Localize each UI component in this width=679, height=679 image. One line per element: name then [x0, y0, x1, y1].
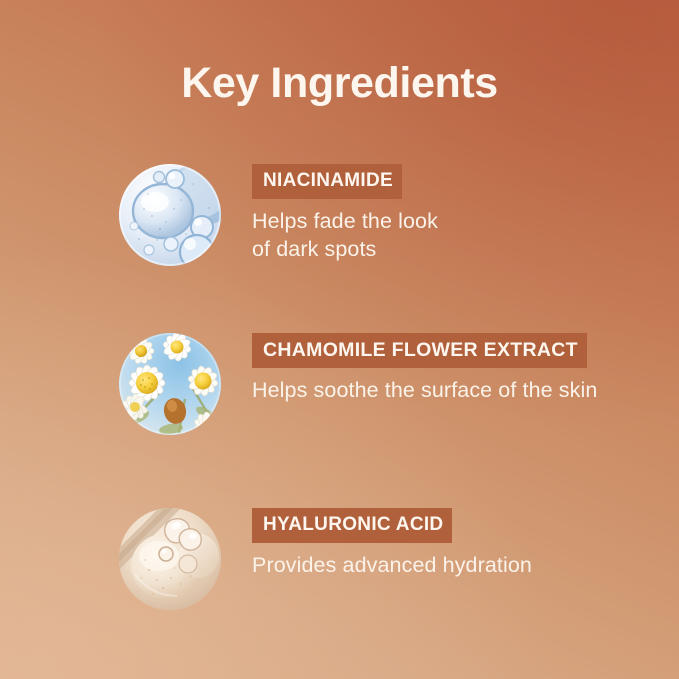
- blue-water-bubbles-circle-image: [119, 164, 221, 266]
- ingredient-text-column: NIACINAMIDE Helps fade the look of dark …: [221, 164, 679, 263]
- flowers-art-detail: [119, 333, 221, 435]
- description-line: Helps fade the look: [252, 207, 672, 235]
- chamomile-daisy-flowers-circle-image: [119, 333, 221, 435]
- thumbnail-container: [0, 164, 221, 266]
- ingredient-row-chamomile-flower-extract: CHAMOMILE FLOWER EXTRACT Helps soothe th…: [0, 333, 679, 435]
- ingredient-row-hyaluronic-acid: HYALURONIC ACID Provides advanced hydrat…: [0, 508, 679, 610]
- key-ingredients-infographic: Key Ingredients: [0, 0, 679, 679]
- thumbnail-container: [0, 333, 221, 435]
- bubbles-art-detail: [119, 164, 221, 266]
- ingredient-row-niacinamide: NIACINAMIDE Helps fade the look of dark …: [0, 164, 679, 266]
- thumbnail-container: [0, 508, 221, 610]
- ingredient-name-chamomile-flower-extract: CHAMOMILE FLOWER EXTRACT: [252, 333, 587, 368]
- ingredient-description-hyaluronic-acid: Provides advanced hydration: [252, 551, 652, 579]
- ingredient-name-niacinamide: NIACINAMIDE: [252, 164, 402, 199]
- clear-gel-droplet-circle-image: [119, 508, 221, 610]
- ingredient-text-column: CHAMOMILE FLOWER EXTRACT Helps soothe th…: [221, 333, 679, 404]
- description-line: of dark spots: [252, 235, 672, 263]
- ingredient-description-niacinamide: Helps fade the look of dark spots: [252, 207, 672, 263]
- page-title: Key Ingredients: [0, 58, 679, 108]
- description-line: Helps soothe the surface of the skin: [252, 376, 652, 404]
- ingredient-name-hyaluronic-acid: HYALURONIC ACID: [252, 508, 452, 543]
- ingredient-description-chamomile-flower-extract: Helps soothe the surface of the skin: [252, 376, 652, 404]
- ingredient-text-column: HYALURONIC ACID Provides advanced hydrat…: [221, 508, 679, 579]
- gel-art-detail: [119, 508, 221, 610]
- description-line: Provides advanced hydration: [252, 551, 652, 579]
